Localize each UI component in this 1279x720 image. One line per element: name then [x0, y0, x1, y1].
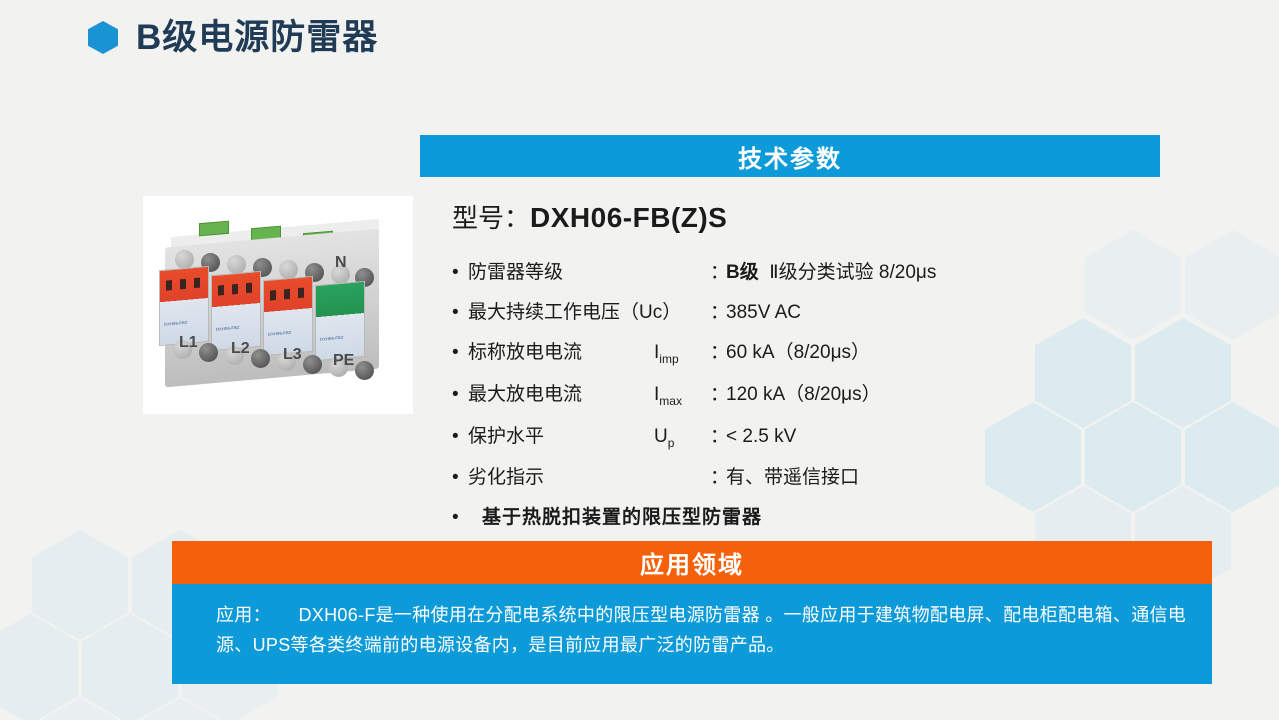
spec-value: 有、带遥信接口	[726, 462, 859, 489]
tech-params-header-label: 技术参数	[738, 139, 842, 174]
spec-colon: ：	[710, 379, 726, 406]
spec-value: 120 kA（8/20μs）	[726, 379, 881, 406]
pole-label-n: N	[335, 254, 347, 272]
pole-label-l2: L2	[231, 340, 250, 358]
spec-name: 防雷器等级	[468, 257, 654, 284]
page-title-row: B级电源防雷器	[88, 20, 378, 55]
spec-name: 标称放电电流	[468, 337, 654, 364]
page-title: B级电源防雷器	[136, 20, 378, 55]
pole-label-l1: L1	[179, 334, 198, 352]
spec-name: 劣化指示	[468, 462, 654, 489]
spec-colon: ：	[710, 297, 726, 324]
spec-rows: •防雷器等级：B级 Ⅱ级分类试验 8/20μs•最大持续工作电压（Uc）：385…	[452, 257, 1152, 529]
model-value: DXH06-FB(Z)S	[530, 202, 727, 233]
model-line: 型号：DXH06-FB(Z)S	[452, 198, 1152, 235]
bottom-hole-6	[303, 355, 322, 374]
spec-row: •防雷器等级：B级 Ⅱ级分类试验 8/20μs	[452, 257, 1152, 284]
spec-name: 基于热脱扣装置的限压型防雷器	[468, 502, 762, 529]
spec-bullet-icon: •	[452, 468, 468, 487]
spec-row: •基于热脱扣装置的限压型防雷器	[452, 502, 1152, 529]
spec-bullet-icon: •	[452, 427, 468, 446]
spec-bullet-icon: •	[452, 343, 468, 362]
bottom-hole-4	[251, 349, 270, 368]
module-l3: DXH06-FBZ	[263, 276, 313, 356]
spec-bullet-icon: •	[452, 303, 468, 322]
model-label: 型号：	[452, 203, 530, 233]
terminal-green-1	[199, 221, 229, 237]
application-header-label: 应用领域	[640, 545, 744, 580]
application-text: 应用： DXH06-F是一种使用在分配电系统中的限压型电源防雷器 。一般应用于建…	[216, 600, 1198, 660]
module-label: DXH06-FBZ	[268, 330, 292, 337]
spec-bullet-icon: •	[452, 263, 468, 282]
spec-name: 最大持续工作电压（Uc）	[468, 297, 710, 324]
spd-illustration: DXH06-FBZ DXH06-FBZ DXH06-FBZ DXH06-FBZ …	[159, 216, 395, 396]
pole-label-l3: L3	[283, 346, 302, 364]
bottom-hole-8	[355, 361, 374, 380]
spec-colon: ：	[710, 257, 726, 284]
module-pe: DXH06-FBZ	[315, 281, 365, 361]
application-header: 应用领域	[172, 541, 1212, 584]
spec-bullet-icon: •	[452, 385, 468, 404]
tech-params-header: 技术参数	[420, 135, 1160, 177]
spec-name: 最大放电电流	[468, 379, 654, 406]
spec-row: •劣化指示：有、带遥信接口	[452, 462, 1152, 489]
spec-value: 60 kA（8/20μs）	[726, 337, 870, 364]
tech-params-list: 型号：DXH06-FB(Z)S •防雷器等级：B级 Ⅱ级分类试验 8/20μs•…	[452, 198, 1152, 542]
spec-symbol: Imax	[654, 384, 710, 408]
spec-row: •保护水平Up：< 2.5 kV	[452, 421, 1152, 450]
product-image: DXH06-FBZ DXH06-FBZ DXH06-FBZ DXH06-FBZ …	[143, 196, 413, 414]
hexagon-icon	[88, 21, 118, 54]
top-hole-3	[227, 255, 246, 274]
spec-value: < 2.5 kV	[726, 426, 796, 448]
spec-name: 保护水平	[468, 421, 654, 448]
module-label: DXH06-FBZ	[164, 320, 188, 327]
spec-colon: ：	[710, 421, 726, 448]
spec-value: 385V AC	[726, 302, 801, 324]
top-hole-1	[175, 250, 194, 269]
spec-symbol: Up	[654, 426, 710, 450]
spec-colon: ：	[710, 337, 726, 364]
top-hole-5	[279, 260, 298, 279]
pole-label-pe: PE	[333, 352, 354, 370]
spec-value: B级 Ⅱ级分类试验 8/20μs	[726, 257, 936, 284]
spec-colon: ：	[710, 462, 726, 489]
spec-bullet-icon: •	[452, 508, 468, 527]
application-body: 应用： DXH06-F是一种使用在分配电系统中的限压型电源防雷器 。一般应用于建…	[172, 584, 1212, 684]
spec-symbol: Iimp	[654, 342, 710, 366]
spec-row: •最大持续工作电压（Uc）：385V AC	[452, 297, 1152, 324]
spec-row: •最大放电电流Imax：120 kA（8/20μs）	[452, 379, 1152, 408]
bottom-hole-2	[199, 343, 218, 362]
module-label: DXH06-FBZ	[216, 325, 240, 332]
module-label: DXH06-FBZ	[320, 335, 344, 342]
spec-row: •标称放电电流Iimp：60 kA（8/20μs）	[452, 337, 1152, 366]
